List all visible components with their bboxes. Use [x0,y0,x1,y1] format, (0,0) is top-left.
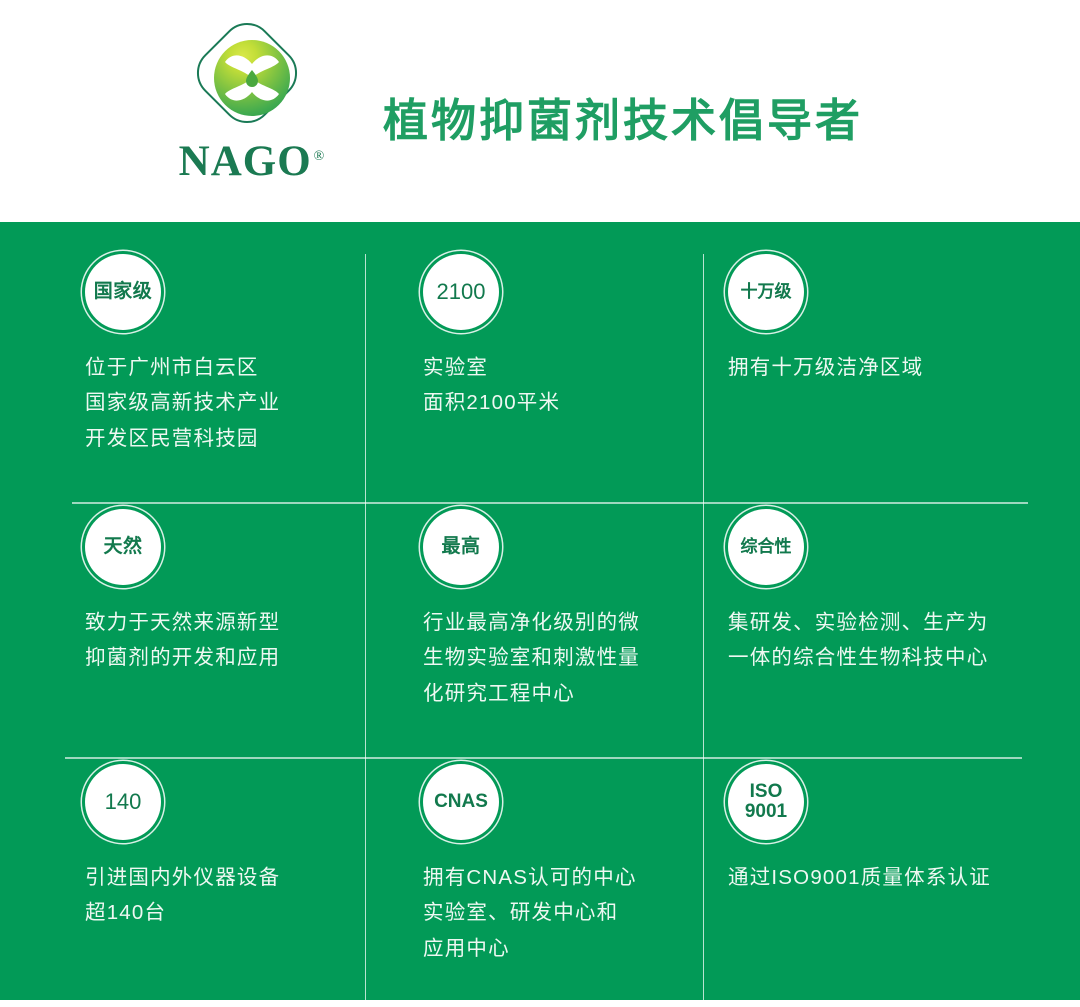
feature-body-text: 集研发、实验检测、生产为 一体的综合性生物科技中心 [728,605,988,676]
logo-wordmark: NAGO® [179,140,326,183]
feature-badge-label: 2100 [437,280,486,303]
feature-cell: CNAS 拥有CNAS认可的中心 实验室、研发中心和 应用中心 [365,732,703,1000]
feature-badge: 最高 [423,509,499,585]
brand-logo: NAGO® [172,22,332,192]
feature-cell: 十万级 拥有十万级洁净区域 [703,222,1080,477]
feature-body-text: 通过ISO9001质量体系认证 [728,860,991,895]
feature-badge-label: 十万级 [741,283,792,301]
feature-badge-label: CNAS [434,792,488,812]
feature-body-text: 行业最高净化级别的微 生物实验室和刺激性量 化研究工程中心 [423,605,640,711]
page-header: NAGO® 植物抑菌剂技术倡导者 [0,0,1080,222]
features-panel: 国家级 位于广州市白云区 国家级高新技术产业 开发区民营科技园 2100 实验室… [0,222,1080,1000]
feature-badge-label: 国家级 [94,282,153,302]
grid-divider-vertical [365,254,366,1007]
feature-cell: 最高 行业最高净化级别的微 生物实验室和刺激性量 化研究工程中心 [365,477,703,732]
logo-wordmark-text: NAGO [179,138,312,185]
feature-badge: 国家级 [85,254,161,330]
grid-divider-vertical [703,254,704,1007]
feature-cell: ISO 9001 通过ISO9001质量体系认证 [703,732,1080,1000]
feature-cell: 综合性 集研发、实验检测、生产为 一体的综合性生物科技中心 [703,477,1080,732]
page-title: 植物抑菌剂技术倡导者 [383,84,863,149]
feature-badge: 十万级 [728,254,804,330]
feature-cell: 2100 实验室 面积2100平米 [365,222,703,477]
feature-badge-label: 140 [105,790,142,813]
feature-badge: ISO 9001 [728,764,804,840]
feature-badge-label: ISO 9001 [745,782,787,822]
feature-cell: 国家级 位于广州市白云区 国家级高新技术产业 开发区民营科技园 [0,222,365,477]
logo-petals-icon [214,40,290,116]
features-grid: 国家级 位于广州市白云区 国家级高新技术产业 开发区民营科技园 2100 实验室… [0,222,1080,1000]
feature-body-text: 拥有十万级洁净区域 [728,350,923,385]
feature-body-text: 位于广州市白云区 国家级高新技术产业 开发区民营科技园 [85,350,280,456]
feature-cell: 140 引进国内外仪器设备 超140台 [0,732,365,1000]
grid-divider-horizontal [72,502,1028,504]
feature-badge-label: 综合性 [741,538,792,556]
grid-divider-horizontal [65,757,1022,759]
feature-body-text: 拥有CNAS认可的中心 实验室、研发中心和 应用中心 [423,860,637,966]
feature-badge-label: 最高 [441,537,480,557]
feature-body-text: 致力于天然来源新型 抑菌剂的开发和应用 [85,605,280,676]
feature-badge-label: 天然 [103,537,142,557]
feature-body-text: 实验室 面积2100平米 [423,350,560,421]
registered-trademark-icon: ® [314,149,326,164]
feature-badge: 天然 [85,509,161,585]
feature-badge: CNAS [423,764,499,840]
feature-badge: 140 [85,764,161,840]
nago-flower-logo-icon [196,22,308,134]
feature-badge: 2100 [423,254,499,330]
feature-body-text: 引进国内外仪器设备 超140台 [85,860,280,931]
feature-cell: 天然 致力于天然来源新型 抑菌剂的开发和应用 [0,477,365,732]
feature-badge: 综合性 [728,509,804,585]
